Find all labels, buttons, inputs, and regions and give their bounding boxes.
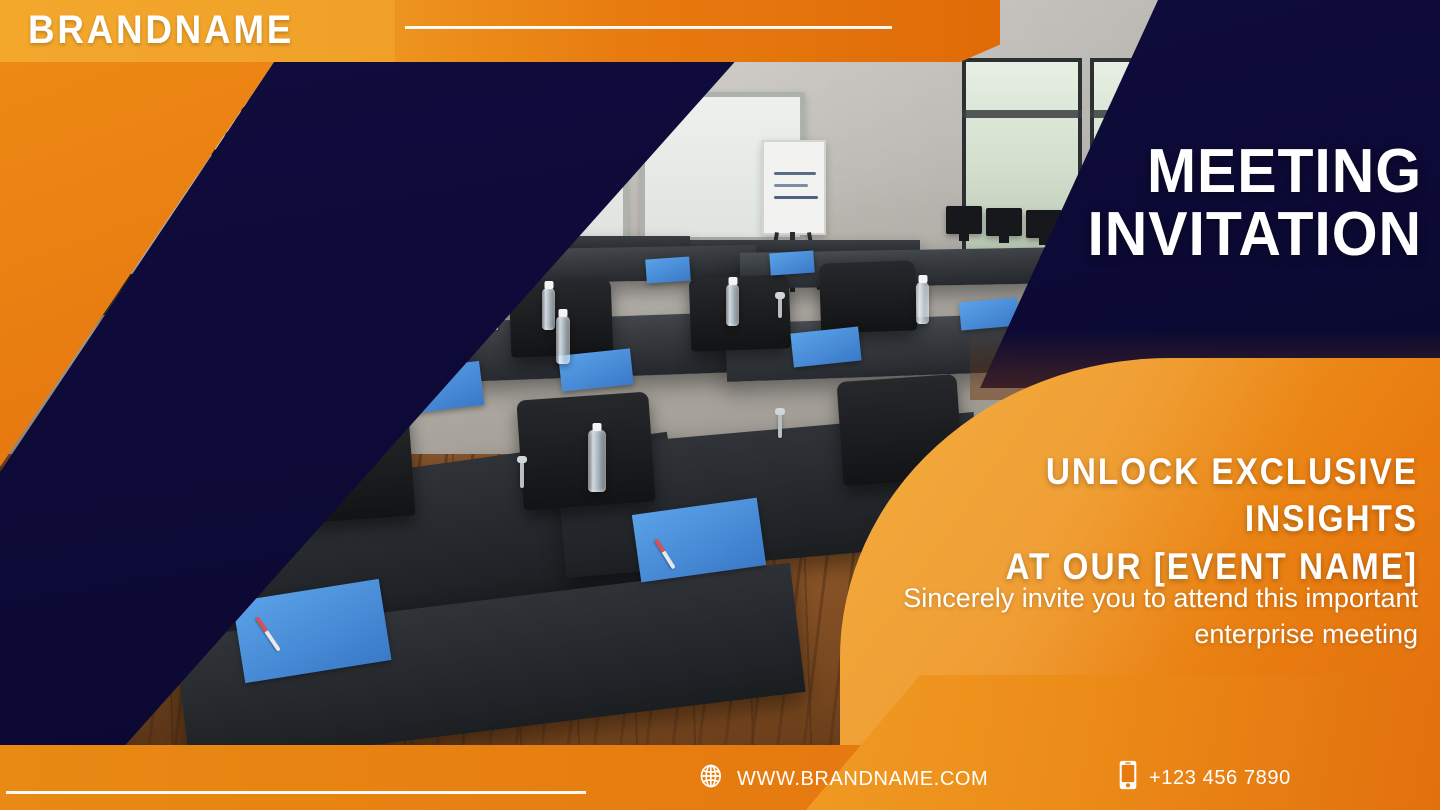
chair: [689, 274, 792, 351]
microphone: [778, 412, 782, 438]
chair: [819, 260, 917, 333]
monitor: [946, 206, 982, 234]
blue-folder: [769, 250, 814, 275]
flipchart-line: [774, 196, 818, 199]
water-bottle: [916, 282, 929, 324]
title-line-2: INVITATION: [1023, 203, 1422, 266]
blue-folder: [790, 327, 861, 368]
microphone: [778, 296, 782, 318]
chair: [516, 392, 655, 511]
monitor: [986, 208, 1022, 236]
water-bottle: [588, 430, 606, 492]
title-line-1: MEETING: [1147, 137, 1422, 206]
page-title: MEETING INVITATION: [1023, 140, 1422, 266]
contact-phone[interactable]: +123 456 7890: [1118, 760, 1291, 796]
phone-text: +123 456 7890: [1149, 767, 1291, 790]
microphone: [520, 460, 524, 488]
meeting-invitation-poster: BRANDNAME MEETING INVITATION UNLOCK EXCL…: [0, 0, 1440, 810]
globe-icon: [698, 762, 726, 796]
contact-website[interactable]: WWW.BRANDNAME.COM: [698, 762, 988, 796]
website-text: WWW.BRANDNAME.COM: [737, 768, 988, 791]
flipchart-line: [774, 184, 808, 187]
smartphone-icon: [1118, 760, 1138, 796]
body-copy: Sincerely invite you to attend this impo…: [818, 580, 1418, 653]
blue-folder: [645, 256, 691, 283]
flipchart-line: [774, 172, 816, 175]
flipchart-board: [762, 140, 826, 235]
headline: UNLOCK EXCLUSIVE INSIGHTS AT OUR [EVENT …: [914, 448, 1418, 590]
water-bottle: [726, 284, 739, 326]
window-mullion: [962, 110, 1082, 118]
water-bottle: [556, 316, 570, 364]
headline-line-1: UNLOCK EXCLUSIVE INSIGHTS: [1046, 451, 1418, 539]
brand-name: BRANDNAME: [28, 10, 294, 50]
water-bottle: [542, 288, 555, 330]
footer-rule: [6, 791, 586, 794]
header-rule: [405, 26, 892, 29]
